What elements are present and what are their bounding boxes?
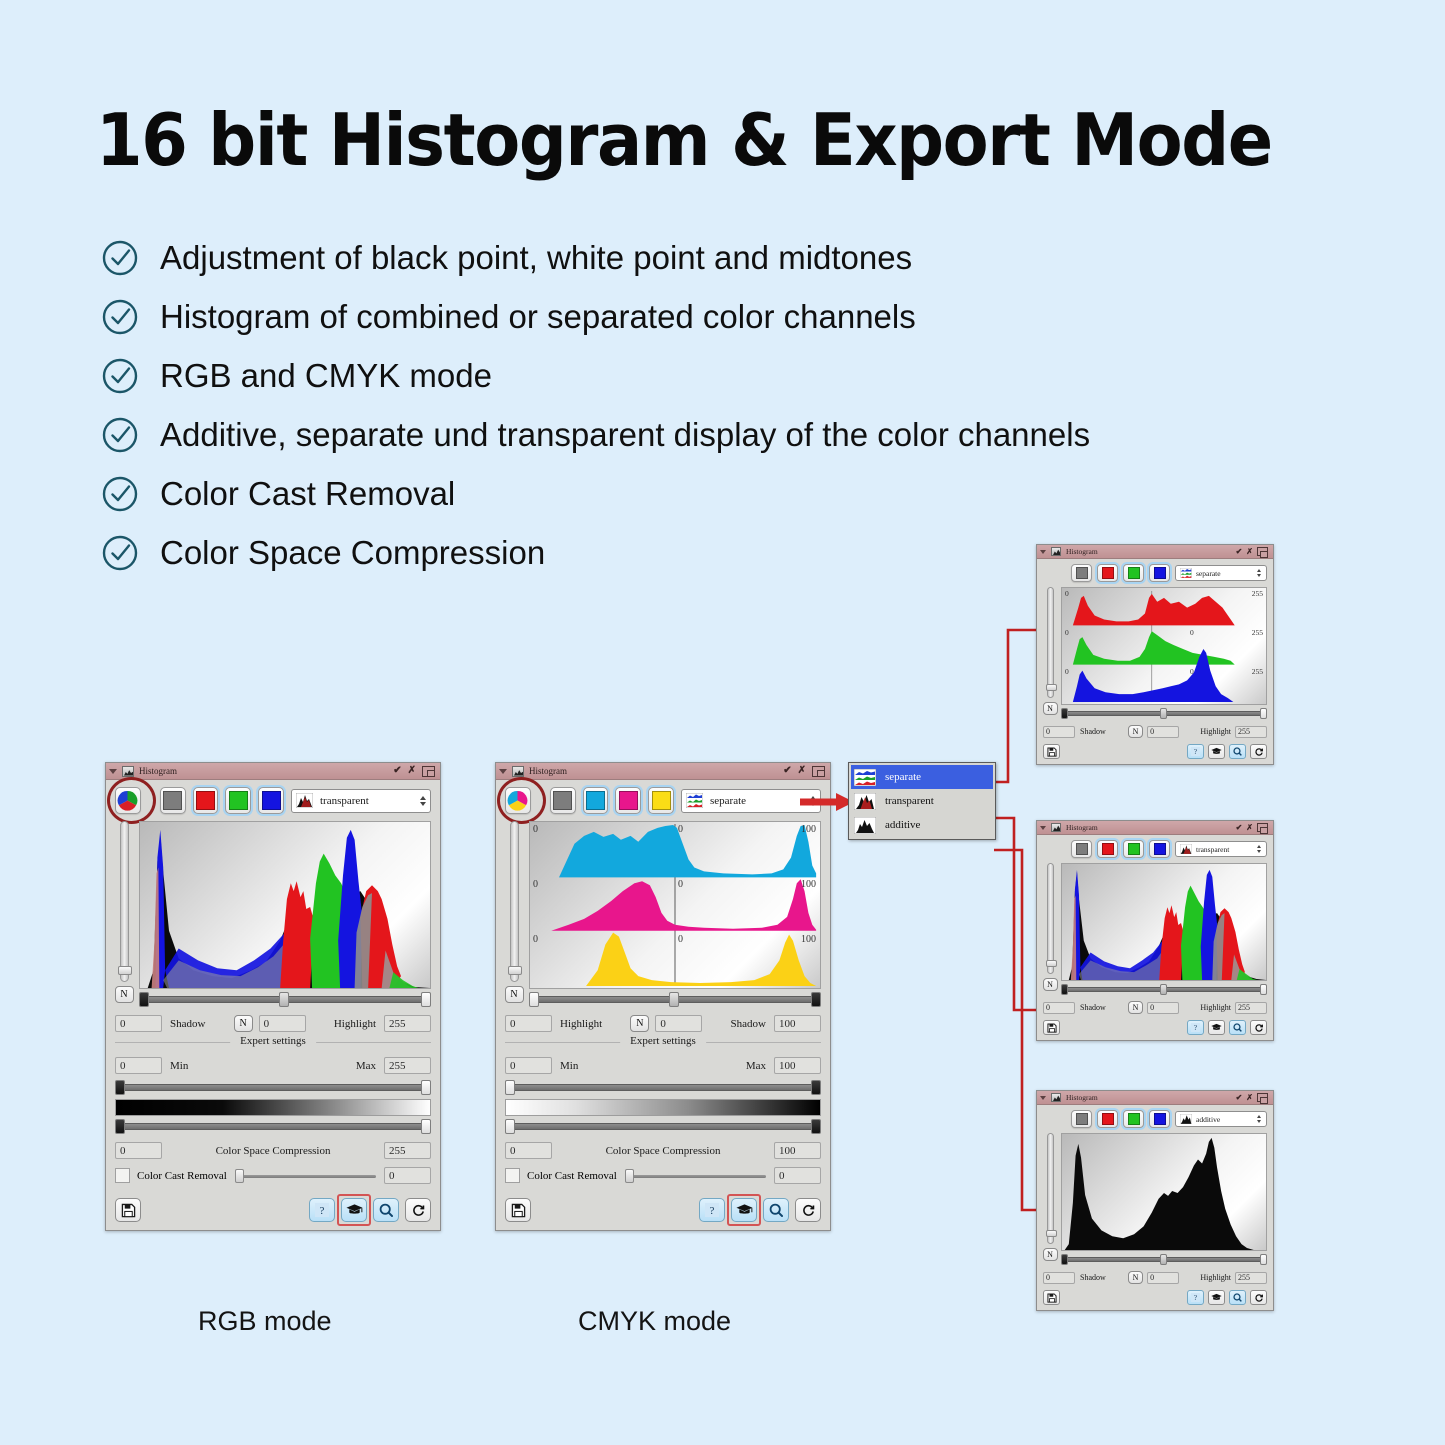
slider-track[interactable]: [1047, 863, 1054, 974]
midtone-slider-thumb[interactable]: [669, 992, 679, 1007]
color-cast-removal-slider[interactable]: [235, 1169, 376, 1183]
highlight-slider-thumb[interactable]: [421, 992, 431, 1007]
highlight-value-field[interactable]: 255: [384, 1015, 431, 1032]
midtone-value-field[interactable]: 0: [1147, 1272, 1179, 1284]
channel-button-red[interactable]: [1097, 840, 1118, 858]
magenta-swatch: [619, 791, 638, 810]
channel-button-composite-rgb[interactable]: [115, 787, 141, 814]
highlight-value-field[interactable]: 255: [1235, 1272, 1267, 1284]
display-mode-menu[interactable]: separate transparent additive: [848, 762, 996, 840]
magnifier-button[interactable]: [1229, 744, 1246, 759]
graduation-cap-button[interactable]: [1208, 1290, 1225, 1305]
save-button[interactable]: [1043, 744, 1060, 759]
midtone-slider-thumb[interactable]: [1160, 1254, 1167, 1265]
help-button[interactable]: ?: [309, 1198, 335, 1222]
min-slider-thumb[interactable]: [505, 1080, 515, 1095]
normalize-midtone-button[interactable]: N: [630, 1015, 649, 1032]
bottom-toolbar: ?: [505, 1198, 821, 1222]
channel-button-gray[interactable]: [550, 787, 576, 814]
normalize-midtone-button[interactable]: N: [1128, 725, 1143, 738]
save-button[interactable]: [115, 1198, 141, 1222]
feature-label: Color Space Compression: [160, 534, 545, 572]
titlebar[interactable]: Histogram ✔ ✗: [1037, 821, 1273, 835]
collapse-arrow-icon[interactable]: [109, 769, 117, 774]
midtone-slider-thumb[interactable]: [279, 992, 289, 1007]
svg-text:?: ?: [1194, 748, 1197, 756]
histogram-additive-icon: [1180, 1114, 1192, 1125]
highlight-slider-thumb[interactable]: [1260, 708, 1267, 719]
color-cast-removal-row: Color Cast Removal 0: [115, 1167, 431, 1184]
display-mode-value: transparent: [1196, 845, 1254, 854]
normalize-midtone-button[interactable]: N: [1128, 1271, 1143, 1284]
rgb-composite-icon: [117, 790, 138, 811]
green-swatch: [1128, 843, 1140, 855]
gray-swatch: [1076, 1113, 1088, 1125]
feature-item: RGB and CMYK mode: [100, 346, 1360, 405]
slider-thumb[interactable]: [1046, 960, 1057, 967]
magnifier-button[interactable]: [1229, 1290, 1246, 1305]
shadow-slider-thumb[interactable]: [139, 992, 149, 1007]
check-circle-icon: [100, 297, 140, 337]
slider-track[interactable]: [505, 1123, 821, 1130]
min-label: Min: [560, 1060, 578, 1072]
gray-swatch: [1076, 843, 1088, 855]
midtone-value-field[interactable]: 0: [655, 1015, 702, 1032]
bottom-toolbar: ?: [1043, 744, 1267, 759]
preview-dialog-transparent[interactable]: Histogram ✔ ✗ transparent N: [1036, 820, 1274, 1041]
restore-icon[interactable]: [812, 766, 825, 777]
slider-thumb[interactable]: [118, 966, 132, 975]
gray-swatch: [163, 791, 182, 810]
rgb-histogram-plot[interactable]: [139, 821, 431, 989]
channel-button-yellow[interactable]: [648, 787, 674, 814]
histogram-app-icon: [1051, 823, 1061, 832]
highlight-slider-thumb[interactable]: [1260, 1254, 1267, 1265]
compression-max-field[interactable]: 100: [774, 1142, 821, 1159]
vertical-scale-slider[interactable]: N: [115, 821, 133, 1003]
blue-swatch: [1154, 567, 1166, 579]
slider-thumb[interactable]: [1046, 684, 1057, 691]
plot-tick-left-magenta: 0: [533, 879, 538, 890]
compression-min-field[interactable]: 0: [505, 1142, 552, 1159]
channel-button-gray[interactable]: [1071, 1110, 1092, 1128]
histogram-separate-icon: [1180, 568, 1192, 579]
histogram-app-icon: [512, 766, 524, 777]
yellow-swatch: [652, 791, 671, 810]
slider-track[interactable]: [115, 1123, 431, 1130]
svg-text:?: ?: [1194, 1024, 1197, 1032]
color-cast-removal-checkbox[interactable]: [115, 1168, 130, 1183]
shadow-value-field[interactable]: 0: [1043, 1272, 1075, 1284]
green-swatch: [1128, 1113, 1140, 1125]
slider-thumb[interactable]: [508, 966, 522, 975]
min-max-top-slider[interactable]: [115, 1080, 431, 1096]
reset-button[interactable]: [795, 1198, 821, 1222]
help-button[interactable]: ?: [1187, 1290, 1204, 1305]
page-title: 16 bit Histogram & Export Mode: [96, 98, 1272, 182]
highlight-label: Highlight: [334, 1018, 376, 1030]
spinner-arrows-icon[interactable]: [1254, 1113, 1263, 1125]
save-button[interactable]: [1043, 1290, 1060, 1305]
slider-track[interactable]: [115, 1084, 431, 1091]
collapse-arrow-icon[interactable]: [499, 769, 507, 774]
tone-gradient-bar: [115, 1099, 431, 1116]
help-button[interactable]: ?: [1187, 1020, 1204, 1035]
max-value-field[interactable]: 100: [774, 1057, 821, 1074]
reset-button[interactable]: [1250, 1290, 1267, 1305]
restore-icon[interactable]: [1257, 823, 1268, 832]
tone-range-slider[interactable]: [1061, 1254, 1267, 1266]
compression-min-field[interactable]: 0: [115, 1142, 162, 1159]
accept-button[interactable]: ✔: [1236, 824, 1243, 832]
normalize-button-vertical[interactable]: N: [505, 986, 524, 1003]
green-swatch: [229, 791, 248, 810]
compression-min-thumb[interactable]: [505, 1119, 515, 1134]
expert-settings-divider: Expert settings: [115, 1042, 431, 1043]
svg-text:?: ?: [1194, 1294, 1197, 1302]
shadow-label: Shadow: [731, 1018, 766, 1030]
reset-button[interactable]: [1250, 1020, 1267, 1035]
restore-icon[interactable]: [1257, 1093, 1268, 1102]
slider-track[interactable]: [510, 821, 519, 982]
max-slider-thumb[interactable]: [421, 1080, 431, 1095]
feature-item: Color Cast Removal: [100, 464, 1360, 523]
plot-tick-right-blue: 255: [1252, 667, 1263, 676]
min-max-top-slider[interactable]: [505, 1080, 821, 1096]
titlebar[interactable]: Histogram ✔ ✗: [106, 763, 440, 780]
plot-tick-right-green: 255: [1252, 628, 1263, 637]
shadow-slider-thumb[interactable]: [1061, 984, 1068, 995]
close-button[interactable]: ✗: [798, 766, 806, 776]
blue-swatch: [1154, 1113, 1166, 1125]
highlight-slider-thumb[interactable]: [1260, 984, 1267, 995]
compression-label: Color Space Compression: [216, 1145, 331, 1157]
accept-button[interactable]: ✔: [1236, 1094, 1243, 1102]
menu-item-label: additive: [885, 819, 920, 831]
window-title: Histogram: [1066, 823, 1236, 832]
channel-button-cyan[interactable]: [583, 787, 609, 814]
histogram-app-icon: [122, 766, 134, 777]
highlight-label: Highlight: [1200, 1003, 1231, 1012]
display-mode-value: transparent: [320, 795, 418, 807]
color-cast-removal-checkbox[interactable]: [505, 1168, 520, 1183]
slider-track[interactable]: [235, 1175, 376, 1178]
shadow-value-field[interactable]: 0: [115, 1015, 162, 1032]
midtone-value-field[interactable]: 0: [259, 1015, 306, 1032]
max-slider-thumb[interactable]: [811, 1080, 821, 1095]
cmyk-histogram-plot[interactable]: 0 0 100 0 0 100 0 0 100: [529, 821, 821, 989]
max-label: Max: [746, 1060, 766, 1072]
transparent-histogram-plot[interactable]: [1061, 863, 1267, 981]
additive-histogram-plot[interactable]: [1061, 1133, 1267, 1251]
slider-thumb[interactable]: [625, 1169, 634, 1183]
channel-button-green[interactable]: [1123, 564, 1144, 582]
display-mode-value: additive: [1196, 1115, 1254, 1124]
spinner-arrows-icon[interactable]: [1254, 567, 1263, 579]
normalize-button-vertical[interactable]: N: [1043, 702, 1058, 715]
shadow-label: Shadow: [1080, 1003, 1106, 1012]
channel-button-gray[interactable]: [1071, 840, 1092, 858]
shadow-label: Shadow: [1080, 1273, 1106, 1282]
plot-tick-mid-yellow: 0: [678, 934, 683, 945]
save-button[interactable]: [1043, 1020, 1060, 1035]
reset-button[interactable]: [1250, 744, 1267, 759]
reset-button[interactable]: [405, 1198, 431, 1222]
highlight-label: Highlight: [1200, 727, 1231, 736]
blue-swatch: [1154, 843, 1166, 855]
feature-label: RGB and CMYK mode: [160, 357, 492, 395]
collapse-arrow-icon[interactable]: [1040, 826, 1046, 830]
accept-button[interactable]: ✔: [393, 766, 401, 776]
channel-button-gray[interactable]: [1071, 564, 1092, 582]
shadow-label: Shadow: [1080, 727, 1106, 736]
red-swatch: [196, 791, 215, 810]
min-value-field[interactable]: 0: [505, 1057, 552, 1074]
red-swatch: [1102, 567, 1114, 579]
close-button[interactable]: ✗: [1246, 824, 1253, 832]
menu-item-label: transparent: [885, 795, 934, 807]
display-mode-dropdown[interactable]: transparent: [291, 789, 431, 813]
magnifier-button[interactable]: [763, 1198, 789, 1222]
preview-dialog-additive[interactable]: Histogram ✔ ✗ additive N: [1036, 1090, 1274, 1311]
min-value-field[interactable]: 0: [115, 1057, 162, 1074]
slider-thumb[interactable]: [1046, 1230, 1057, 1237]
shadow-value-field[interactable]: 100: [774, 1015, 821, 1032]
check-circle-icon: [100, 238, 140, 278]
channel-button-blue[interactable]: [258, 787, 284, 814]
cyan-swatch: [586, 791, 605, 810]
gray-swatch: [553, 791, 572, 810]
color-cast-removal-label: Color Cast Removal: [527, 1170, 617, 1182]
shadow-slider-thumb[interactable]: [1061, 1254, 1068, 1265]
slider-track[interactable]: [505, 1084, 821, 1091]
color-cast-removal-slider[interactable]: [625, 1169, 766, 1183]
channel-button-red[interactable]: [193, 787, 219, 814]
histogram-transparent-icon: [1180, 844, 1192, 855]
svg-text:?: ?: [710, 1205, 715, 1217]
histogram-transparent-icon: [296, 793, 313, 808]
red-swatch: [1102, 1113, 1114, 1125]
tone-range-slider[interactable]: [529, 992, 821, 1008]
normalize-button-vertical[interactable]: N: [115, 986, 134, 1003]
window-title: Histogram: [529, 766, 783, 776]
vertical-scale-slider[interactable]: N: [1043, 587, 1057, 715]
max-value-field[interactable]: 255: [384, 1057, 431, 1074]
color-cast-removal-row: Color Cast Removal 0: [505, 1167, 821, 1184]
magnifier-button[interactable]: [1229, 1020, 1246, 1035]
plot-tick-right-magenta: 100: [801, 879, 816, 890]
color-cast-removal-value[interactable]: 0: [774, 1167, 821, 1184]
bottom-toolbar: ?: [1043, 1020, 1267, 1035]
titlebar[interactable]: Histogram ✔ ✗: [496, 763, 830, 780]
min-label: Min: [170, 1060, 188, 1072]
slider-thumb[interactable]: [235, 1169, 244, 1183]
min-slider-thumb[interactable]: [115, 1080, 125, 1095]
cmyk-histogram-dialog[interactable]: Histogram ✔ ✗ separate: [495, 762, 831, 1231]
compression-slider[interactable]: [505, 1119, 821, 1135]
restore-icon[interactable]: [1257, 547, 1268, 556]
spinner-arrows-icon[interactable]: [1254, 843, 1263, 855]
normalize-midtone-button[interactable]: N: [234, 1015, 253, 1032]
channel-button-blue[interactable]: [1149, 564, 1170, 582]
color-cast-removal-value[interactable]: 0: [384, 1167, 431, 1184]
channel-button-red[interactable]: [1097, 564, 1118, 582]
check-circle-icon: [100, 533, 140, 573]
channel-button-red[interactable]: [1097, 1110, 1118, 1128]
highlight-value-field[interactable]: 255: [1235, 1002, 1267, 1014]
vertical-scale-slider[interactable]: N: [1043, 863, 1057, 991]
expert-settings-label: Expert settings: [230, 1035, 316, 1047]
feature-label: Color Cast Removal: [160, 475, 455, 513]
plot-tick-mid-magenta: 0: [678, 879, 683, 890]
display-mode-dropdown[interactable]: separate: [1175, 565, 1267, 581]
cmy-composite-icon: [507, 790, 528, 811]
graduation-cap-button[interactable]: [1208, 1020, 1225, 1035]
normalize-button-vertical[interactable]: N: [1043, 1248, 1058, 1261]
slider-track[interactable]: [1047, 587, 1054, 698]
display-mode-value: separate: [1196, 569, 1254, 578]
tone-range-slider[interactable]: [1061, 984, 1267, 996]
tone-range-slider[interactable]: [139, 992, 431, 1008]
magnifier-button[interactable]: [373, 1198, 399, 1222]
save-button[interactable]: [505, 1198, 531, 1222]
histogram-separate-icon: [854, 769, 876, 786]
feature-item: Additive, separate und transparent displ…: [100, 405, 1360, 464]
histogram-app-icon: [1051, 547, 1061, 556]
channel-button-green[interactable]: [1123, 840, 1144, 858]
plot-tick-left-red: 0: [1065, 589, 1069, 598]
tone-gradient-bar: [505, 1099, 821, 1116]
graduation-cap-button[interactable]: [1208, 744, 1225, 759]
compression-max-thumb[interactable]: [421, 1119, 431, 1134]
histogram-additive-icon: [854, 817, 876, 834]
titlebar[interactable]: Histogram ✔ ✗: [1037, 545, 1273, 559]
highlight-label: Highlight: [1200, 1273, 1231, 1282]
compression-max-thumb[interactable]: [811, 1119, 821, 1134]
highlight-value-field[interactable]: 0: [505, 1015, 552, 1032]
rgb-mode-caption: RGB mode: [198, 1306, 332, 1337]
close-button[interactable]: ✗: [1246, 1094, 1253, 1102]
shadow-value-field[interactable]: 0: [1043, 726, 1075, 738]
channel-button-blue[interactable]: [1149, 840, 1170, 858]
preview-dialog-separate[interactable]: Histogram ✔ ✗ separate N: [1036, 544, 1274, 765]
channel-button-blue[interactable]: [1149, 1110, 1170, 1128]
channel-button-row: transparent: [115, 787, 431, 814]
channel-button-gray[interactable]: [160, 787, 186, 814]
plot-tick-left-yellow: 0: [533, 934, 538, 945]
plot-tick-left-blue: 0: [1065, 667, 1069, 676]
plot-tick-left-cyan: 0: [533, 824, 538, 835]
collapse-arrow-icon[interactable]: [1040, 1096, 1046, 1100]
expert-settings-label: Expert settings: [620, 1035, 706, 1047]
check-circle-icon: [100, 415, 140, 455]
menu-item-additive[interactable]: additive: [851, 813, 993, 837]
rgb-histogram-dialog[interactable]: Histogram ✔ ✗ transparent: [105, 762, 441, 1231]
compression-max-field[interactable]: 255: [384, 1142, 431, 1159]
check-circle-icon: [100, 356, 140, 396]
collapse-arrow-icon[interactable]: [1040, 550, 1046, 554]
help-button[interactable]: ?: [1187, 744, 1204, 759]
slider-track[interactable]: [120, 821, 129, 982]
normalize-button-vertical[interactable]: N: [1043, 978, 1058, 991]
plot-tick-right-cyan: 100: [801, 824, 816, 835]
midtone-value-field[interactable]: 0: [1147, 726, 1179, 738]
shadow-slider-thumb[interactable]: [811, 992, 821, 1007]
compression-label: Color Space Compression: [606, 1145, 721, 1157]
menu-item-separate[interactable]: separate: [851, 765, 993, 789]
normalize-midtone-button[interactable]: N: [1128, 1001, 1143, 1014]
accept-button[interactable]: ✔: [783, 766, 791, 776]
color-cast-removal-label: Color Cast Removal: [137, 1170, 227, 1182]
svg-text:?: ?: [320, 1205, 325, 1217]
plot-tick-mid-blue: 0: [1190, 667, 1194, 676]
spinner-arrows-icon[interactable]: [418, 793, 427, 809]
vertical-scale-slider[interactable]: N: [505, 821, 523, 1003]
graduation-cap-button[interactable]: [341, 1198, 367, 1222]
display-mode-dropdown[interactable]: additive: [1175, 1111, 1267, 1127]
plot-tick-right-yellow: 100: [801, 934, 816, 945]
check-circle-icon: [100, 474, 140, 514]
gray-swatch: [1076, 567, 1088, 579]
window-title: Histogram: [1066, 547, 1236, 556]
feature-label: Additive, separate und transparent displ…: [160, 416, 1090, 454]
compression-slider[interactable]: [115, 1119, 431, 1135]
bottom-toolbar: ?: [115, 1198, 431, 1222]
expert-settings-divider: Expert settings: [505, 1042, 821, 1043]
feature-label: Histogram of combined or separated color…: [160, 298, 916, 336]
vertical-scale-slider[interactable]: N: [1043, 1133, 1057, 1261]
channel-button-green[interactable]: [1123, 1110, 1144, 1128]
accept-button[interactable]: ✔: [1236, 548, 1243, 556]
channel-button-green[interactable]: [225, 787, 251, 814]
channel-button-row: separate: [505, 787, 821, 814]
bottom-toolbar: ?: [1043, 1290, 1267, 1305]
close-button[interactable]: ✗: [408, 766, 416, 776]
feature-label: Adjustment of black point, white point a…: [160, 239, 912, 277]
channel-button-magenta[interactable]: [615, 787, 641, 814]
red-swatch: [1102, 843, 1114, 855]
help-button[interactable]: ?: [699, 1198, 725, 1222]
highlight-value-field[interactable]: 255: [1235, 726, 1267, 738]
tone-range-slider[interactable]: [1061, 708, 1267, 720]
green-swatch: [1128, 567, 1140, 579]
close-button[interactable]: ✗: [1246, 548, 1253, 556]
channel-button-composite-cmy[interactable]: [505, 787, 531, 814]
feature-item: Adjustment of black point, white point a…: [100, 228, 1360, 287]
slider-track[interactable]: [1047, 1133, 1054, 1244]
titlebar[interactable]: Histogram ✔ ✗: [1037, 1091, 1273, 1105]
menu-item-transparent[interactable]: transparent: [851, 789, 993, 813]
feature-list: Adjustment of black point, white point a…: [100, 228, 1360, 582]
window-title: Histogram: [139, 766, 393, 776]
separate-histogram-plot[interactable]: 0 255 0 0 255 0 0 255: [1061, 587, 1267, 705]
shadow-slider-thumb[interactable]: [1061, 708, 1068, 719]
midtone-slider-thumb[interactable]: [1160, 708, 1167, 719]
display-mode-dropdown[interactable]: transparent: [1175, 841, 1267, 857]
shadow-value-field[interactable]: 0: [1043, 1002, 1075, 1014]
compression-min-thumb[interactable]: [115, 1119, 125, 1134]
slider-track[interactable]: [625, 1175, 766, 1178]
plot-tick-mid-cyan: 0: [678, 824, 683, 835]
graduation-cap-button[interactable]: [731, 1198, 757, 1222]
midtone-value-field[interactable]: 0: [1147, 1002, 1179, 1014]
plot-tick-left-green: 0: [1065, 628, 1069, 637]
restore-icon[interactable]: [422, 766, 435, 777]
highlight-slider-thumb[interactable]: [529, 992, 539, 1007]
plot-tick-right-red: 255: [1252, 589, 1263, 598]
plot-tick-mid-green: 0: [1190, 628, 1194, 637]
midtone-slider-thumb[interactable]: [1160, 984, 1167, 995]
